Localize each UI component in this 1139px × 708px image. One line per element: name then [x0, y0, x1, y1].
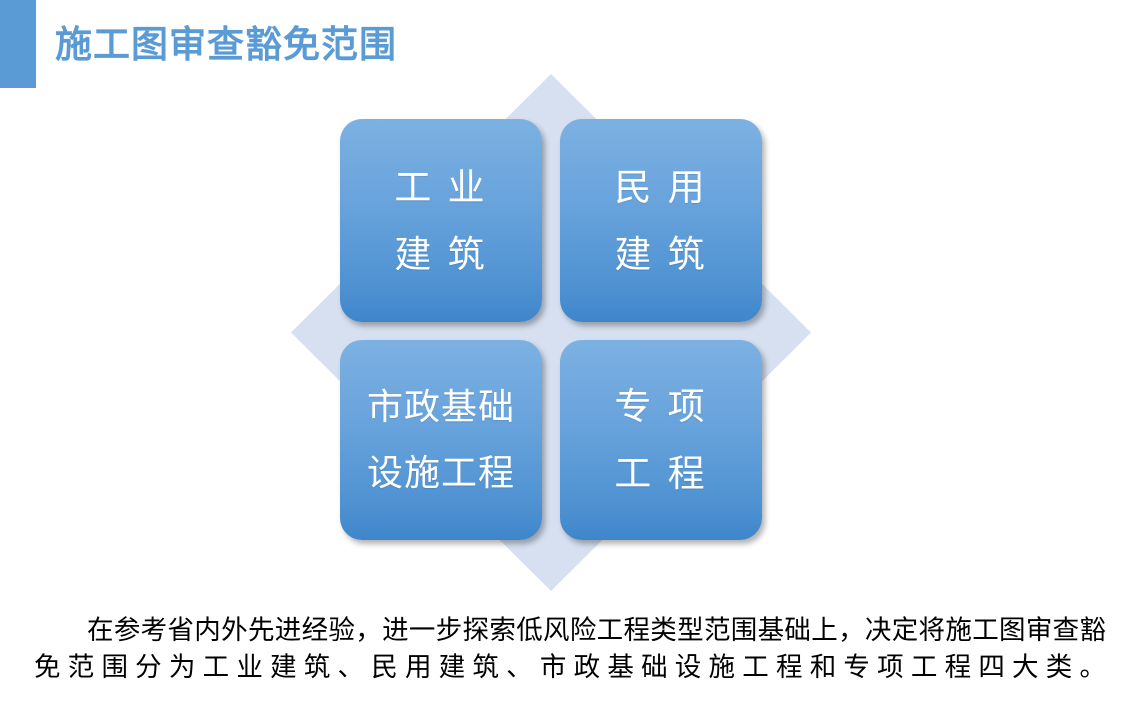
node-municipal-infrastructure[interactable]: 市政基础 设施工程: [340, 340, 542, 540]
node-label-line2: 设施工程: [367, 455, 515, 491]
node-label-line2: 工 程: [614, 455, 707, 492]
node-civil-building[interactable]: 民 用 建 筑: [560, 119, 762, 322]
node-label-line1: 民 用: [614, 169, 707, 206]
body-paragraph: 在参考省内外先进经验，进一步探索低风险工程类型范围基础上，决定将施工图审查豁免范…: [34, 612, 1106, 686]
node-label-line2: 建 筑: [614, 236, 707, 273]
node-industrial-building[interactable]: 工 业 建 筑: [340, 119, 542, 322]
node-label-line1: 工 业: [394, 169, 487, 206]
page-title: 施工图审查豁免范围: [55, 14, 955, 76]
title-accent-bar: [0, 0, 36, 88]
slide-canvas: 施工图审查豁免范围 工 业 建 筑 民 用 建 筑 市政基础 设施工程 专 项 …: [0, 0, 1139, 708]
four-category-diagram: 工 业 建 筑 民 用 建 筑 市政基础 设施工程 专 项 工 程: [291, 74, 811, 591]
node-special-project[interactable]: 专 项 工 程: [560, 340, 762, 540]
node-label-line2: 建 筑: [394, 236, 487, 273]
node-label-line1: 专 项: [614, 388, 707, 425]
node-label-line1: 市政基础: [367, 389, 515, 425]
node-grid: 工 业 建 筑 民 用 建 筑 市政基础 设施工程 专 项 工 程: [340, 119, 762, 540]
